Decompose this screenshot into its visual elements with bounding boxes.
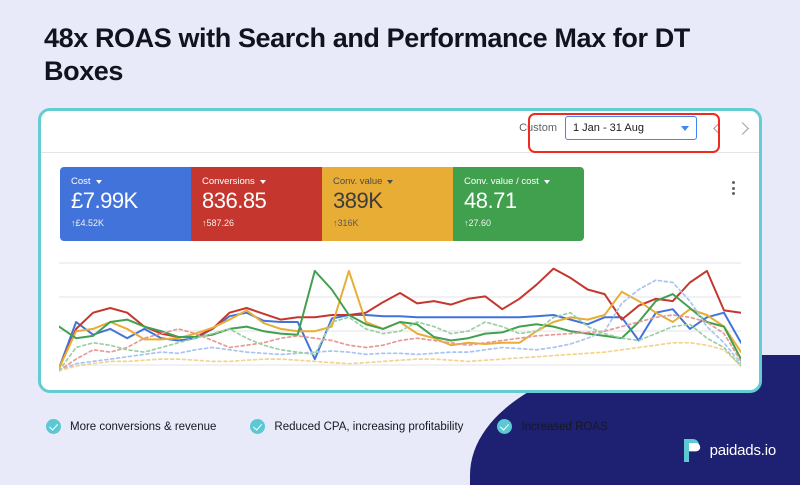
paidads-logo-icon (681, 437, 703, 463)
metric-card-title: Conversions (202, 176, 255, 187)
metric-card-conv-value-cost[interactable]: Conv. value / cost 48.71 ↑27.60 (453, 167, 584, 241)
metric-card-delta: ↑316K (333, 218, 443, 228)
brand-logo: paidads.io (681, 437, 776, 463)
chevron-left-icon[interactable] (713, 122, 726, 135)
benefit-label: Increased ROAS (521, 421, 607, 433)
metric-card-title: Conv. value / cost (464, 176, 539, 187)
date-range-select[interactable]: 1 Jan - 31 Aug (565, 116, 697, 140)
performance-line-chart (59, 251, 741, 379)
dot (732, 192, 735, 195)
metric-card-title: Conv. value (333, 176, 382, 187)
metric-card-conv-value[interactable]: Conv. value 389K ↑316K (322, 167, 453, 241)
metric-card-delta: ↑587.26 (202, 218, 312, 228)
dashboard-header: Custom 1 Jan - 31 Aug (41, 111, 759, 153)
page-title: 48x ROAS with Search and Performance Max… (44, 22, 704, 88)
chart-svg (59, 251, 741, 379)
metrics-panel: Cost £7.99K ↑£4.52K Conversions 836.85 ↑… (49, 159, 751, 387)
more-vertical-icon[interactable] (732, 181, 735, 195)
dot (732, 181, 735, 184)
date-nav-arrows[interactable] (715, 124, 747, 133)
metric-card-value: 48.71 (464, 190, 574, 212)
metric-card-value: 836.85 (202, 190, 312, 212)
metric-card-cost[interactable]: Cost £7.99K ↑£4.52K (60, 167, 191, 241)
date-range-value: 1 Jan - 31 Aug (573, 122, 644, 134)
chevron-right-icon[interactable] (736, 122, 749, 135)
chevron-down-icon (260, 180, 266, 184)
benefits-list: More conversions & revenue Reduced CPA, … (46, 419, 608, 434)
date-range-label: Custom (519, 122, 557, 134)
slide-canvas: 48x ROAS with Search and Performance Max… (0, 0, 800, 485)
metric-card-header[interactable]: Conv. value / cost (464, 176, 574, 187)
metric-card-title: Cost (71, 176, 91, 187)
metric-card-header[interactable]: Cost (71, 176, 181, 187)
date-range-control[interactable]: Custom 1 Jan - 31 Aug (519, 116, 747, 140)
metric-card-header[interactable]: Conv. value (333, 176, 443, 187)
chevron-down-icon (544, 180, 550, 184)
metric-card-value: £7.99K (71, 190, 181, 212)
metric-card-delta: ↑27.60 (464, 218, 574, 228)
metric-card-conversions[interactable]: Conversions 836.85 ↑587.26 (191, 167, 322, 241)
metric-card-value: 389K (333, 190, 443, 212)
benefit-item: More conversions & revenue (46, 419, 216, 434)
check-circle-icon (250, 419, 265, 434)
metric-card-header[interactable]: Conversions (202, 176, 312, 187)
benefit-label: Reduced CPA, increasing profitability (274, 421, 463, 433)
benefit-item: Increased ROAS (497, 419, 607, 434)
chart-series (59, 271, 741, 359)
metric-card-group: Cost £7.99K ↑£4.52K Conversions 836.85 ↑… (60, 167, 584, 241)
chevron-down-icon (681, 126, 689, 131)
chevron-down-icon (96, 180, 102, 184)
chevron-down-icon (387, 180, 393, 184)
dot (732, 187, 735, 190)
dashboard-screenshot: Custom 1 Jan - 31 Aug Cost (38, 108, 762, 393)
check-circle-icon (497, 419, 512, 434)
brand-name: paidads.io (710, 442, 776, 459)
metric-card-delta: ↑£4.52K (71, 218, 181, 228)
check-circle-icon (46, 419, 61, 434)
benefit-label: More conversions & revenue (70, 421, 216, 433)
benefit-item: Reduced CPA, increasing profitability (250, 419, 463, 434)
